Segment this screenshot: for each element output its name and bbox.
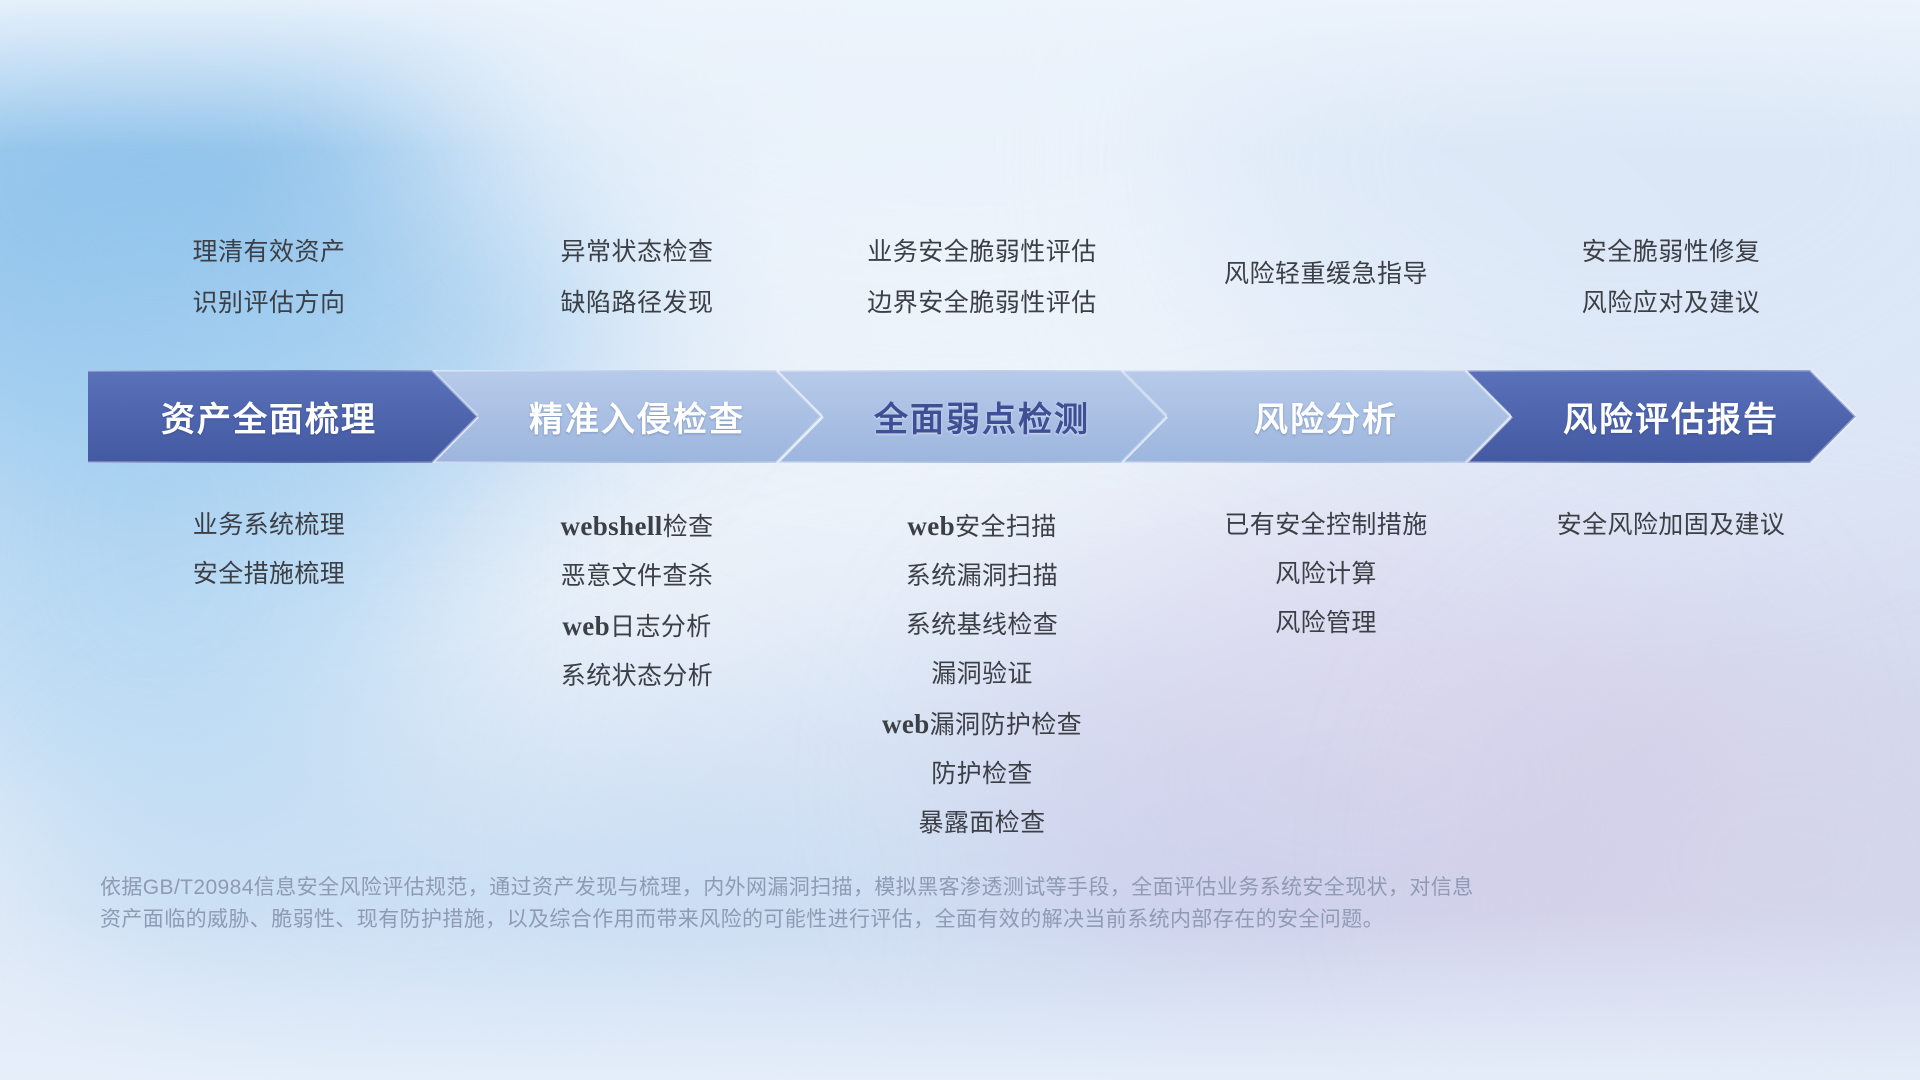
latin-term: web	[882, 709, 930, 739]
caption-line-1: 依据GB/T20984信息安全风险评估规范，通过资产发现与梳理，内外网漏洞扫描，…	[100, 872, 1660, 904]
footer-caption: 依据GB/T20984信息安全风险评估规范，通过资产发现与梳理，内外网漏洞扫描，…	[100, 872, 1660, 936]
top-list-item: 安全脆弱性修复	[1431, 240, 1911, 265]
process-stage-weakness-detection[interactable]: 全面弱点检测	[777, 370, 1167, 463]
stage-title-asset-inventory: 资产全面梳理	[161, 392, 377, 441]
stage-title-risk-report: 风险评估报告	[1563, 392, 1779, 441]
stage-bottom-list-risk-report: 安全风险加固及建议	[1431, 513, 1911, 562]
bottom-list-item: 安全风险加固及建议	[1431, 513, 1911, 538]
bottom-list-item: 风险管理	[1086, 611, 1566, 636]
slide-canvas: 资产全面梳理 精准入侵检查	[0, 0, 1920, 1080]
stage-title-weakness-detection: 全面弱点检测	[874, 392, 1090, 441]
process-stage-risk-report[interactable]: 风险评估报告	[1466, 370, 1856, 463]
process-stage-risk-analysis[interactable]: 风险分析	[1121, 370, 1511, 463]
top-list-item: 风险应对及建议	[1431, 291, 1911, 316]
latin-term: web	[562, 611, 610, 641]
caption-line-2: 资产面临的威胁、脆弱性、现有防护措施，以及综合作用而带来风险的可能性进行评估，全…	[100, 904, 1660, 936]
process-flow-banner: 资产全面梳理 精准入侵检查	[88, 370, 1856, 463]
bottom-list-item: web漏洞防护检查	[742, 711, 1222, 738]
stage-title-intrusion-check: 精准入侵检查	[529, 392, 745, 441]
bottom-list-item: 暴露面检查	[742, 811, 1222, 836]
bottom-list-item: 防护检查	[742, 762, 1222, 787]
slide-content: 资产全面梳理 精准入侵检查	[0, 0, 1920, 1080]
bottom-list-item: 风险计算	[1086, 562, 1566, 587]
process-stage-asset-inventory[interactable]: 资产全面梳理	[88, 370, 478, 463]
stage-title-risk-analysis: 风险分析	[1254, 392, 1398, 441]
bottom-list-item: 漏洞验证	[742, 662, 1222, 687]
process-stage-intrusion-check[interactable]: 精准入侵检查	[432, 370, 822, 463]
stage-top-list-risk-report: 安全脆弱性修复风险应对及建议	[1431, 240, 1911, 342]
latin-term: webshell	[560, 511, 662, 541]
latin-term: web	[907, 511, 955, 541]
